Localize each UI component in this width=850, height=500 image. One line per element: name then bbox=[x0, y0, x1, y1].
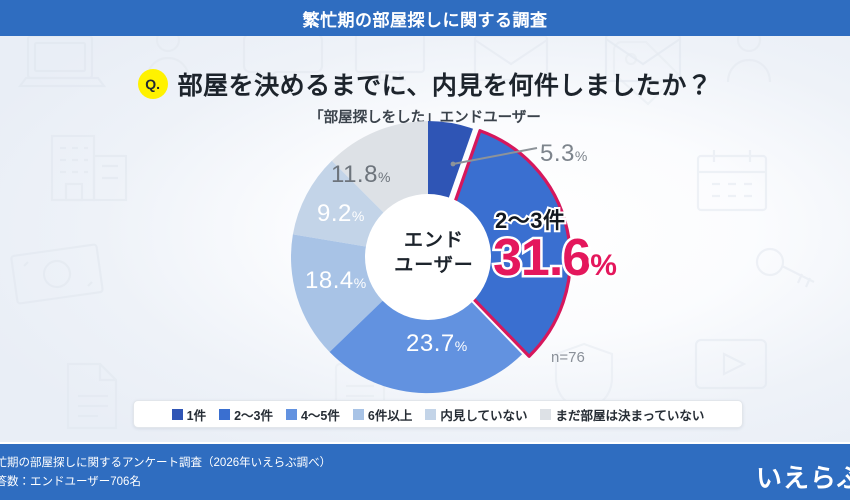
legend-item-two-three[interactable]: 2〜3件 bbox=[219, 405, 273, 424]
legend-swatch-icon bbox=[540, 409, 551, 420]
brand-logo: いえらぶ bbox=[756, 458, 850, 495]
legend-item-six-plus[interactable]: 6件以上 bbox=[353, 405, 412, 424]
donut-center-line2: ユーザー bbox=[394, 255, 474, 276]
banknote-icon bbox=[8, 236, 116, 314]
question-row: Q. 部屋を決めるまでに、内見を何件しましたか？ bbox=[0, 66, 850, 102]
question-badge: Q. bbox=[138, 69, 168, 99]
donut-center-label: エンド ユーザー bbox=[378, 228, 490, 278]
slice-value-four-five: 23.7% bbox=[406, 330, 468, 358]
donut-center-line1: エンド bbox=[404, 230, 464, 251]
legend-item-not-decided[interactable]: まだ部屋は決まっていない bbox=[540, 405, 704, 424]
building-icon bbox=[44, 128, 136, 210]
document-icon bbox=[50, 356, 132, 436]
legend-swatch-icon bbox=[219, 409, 230, 420]
legend-swatch-icon bbox=[353, 409, 364, 420]
footer-line-2: 回答数：エンドユーザー706名 bbox=[0, 473, 331, 492]
footer-bar: 繁忙期の部屋探しに関するアンケート調査（2026年いえらぶ調べ） 回答数：エンド… bbox=[0, 442, 850, 500]
slice-value-six-plus: 18.4% bbox=[305, 267, 367, 295]
infographic-slide: 繁忙期の部屋探しに関する調査 Q. 部屋を決めるまでに、内見を何件しましたか？ … bbox=[0, 0, 850, 500]
callout-unit: % bbox=[590, 249, 616, 282]
legend-swatch-icon bbox=[286, 409, 297, 420]
slice-value-not-decided: 11.8% bbox=[331, 161, 391, 189]
legend-item-four-five[interactable]: 4〜5件 bbox=[286, 405, 340, 424]
slice-value-one: 5.3% bbox=[540, 140, 588, 168]
slice-value-no-viewing: 9.2% bbox=[317, 200, 365, 228]
callout-number: 31.6 bbox=[493, 229, 590, 287]
video-player-icon bbox=[688, 332, 774, 398]
legend-item-one[interactable]: 1件 bbox=[172, 405, 206, 424]
footer-note: 繁忙期の部屋探しに関するアンケート調査（2026年いえらぶ調べ） 回答数：エンド… bbox=[0, 454, 331, 492]
page-title: 部屋を決めるまでに、内見を何件しましたか？ bbox=[178, 66, 713, 102]
callout-value: 31.6% bbox=[493, 228, 616, 288]
chart-legend: 1件 2〜3件 4〜5件 6件以上 内見していない まだ部屋は決まっていない bbox=[133, 400, 743, 428]
legend-swatch-icon bbox=[425, 409, 436, 420]
footer-line-1: 繁忙期の部屋探しに関するアンケート調査（2026年いえらぶ調べ） bbox=[0, 454, 331, 473]
banner-title: 繁忙期の部屋探しに関する調査 bbox=[303, 6, 548, 31]
legend-item-no-viewing[interactable]: 内見していない bbox=[425, 405, 527, 424]
legend-swatch-icon bbox=[172, 409, 183, 420]
top-banner: 繁忙期の部屋探しに関する調査 bbox=[0, 0, 850, 36]
key-icon bbox=[748, 232, 828, 300]
calendar-icon bbox=[690, 144, 774, 218]
sample-size-label: n=76 bbox=[551, 349, 585, 366]
